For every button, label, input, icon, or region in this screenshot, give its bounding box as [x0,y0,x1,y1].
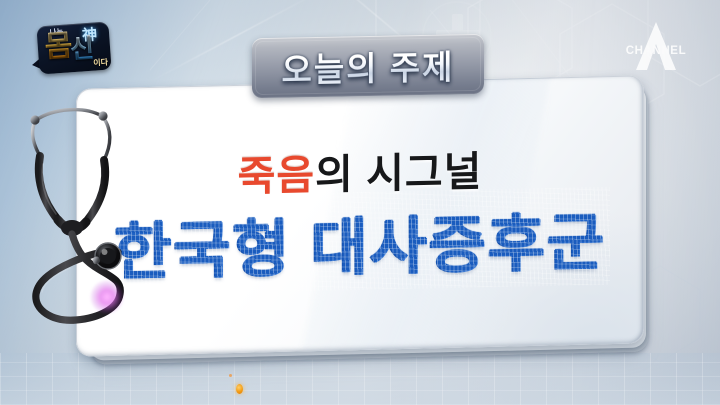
headline-primary-rest: 의 시그널 [315,148,482,198]
orange-dot-particle [236,384,243,394]
channel-a-logo: CHANNEL [614,18,698,74]
svg-text:CHANNEL: CHANNEL [626,45,686,57]
stethoscope-icon [8,104,158,334]
orange-dot-particle-small [229,374,232,377]
broadcast-screen: 나는 神 몸 신 이다 CHANNEL 죽음의 시그널 한국형 대사증후군 오늘… [0,0,720,405]
headline-secondary-text: 한국형 대사증후군 [114,191,606,291]
show-logo-suffix: 이다 [93,59,108,68]
headline-accent-word: 죽음 [238,152,315,200]
pink-glow-particle [90,280,124,314]
topic-banner-label: 오늘의 주제 [252,34,484,98]
show-logo: 나는 神 몸 신 이다 [36,22,111,75]
show-logo-shin: 신 [69,35,95,63]
